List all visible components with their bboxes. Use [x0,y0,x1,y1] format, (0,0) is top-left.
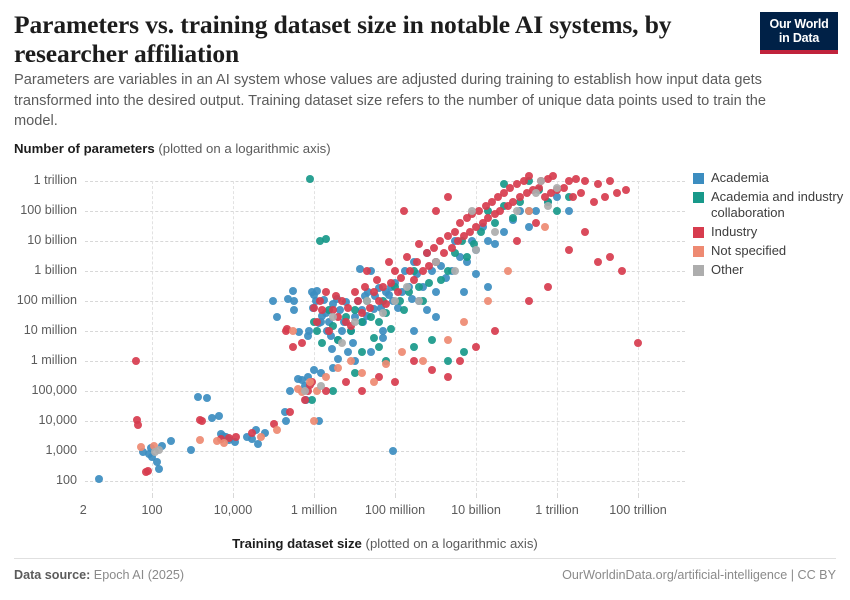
scatter-point[interactable] [363,267,371,275]
scatter-point[interactable] [351,288,359,296]
scatter-point[interactable] [565,207,573,215]
scatter-point[interactable] [286,408,294,416]
scatter-point[interactable] [338,327,346,335]
scatter-point[interactable] [298,339,306,347]
scatter-point[interactable] [387,325,395,333]
x-axis-tick-mark [395,493,396,498]
scatter-point[interactable] [553,184,561,192]
legend-item[interactable]: Academia [693,170,845,186]
scatter-point[interactable] [460,348,468,356]
scatter-point[interactable] [425,279,433,287]
scatter-point[interactable] [468,207,476,215]
footer-divider [14,558,836,559]
y-axis-tick-label: 10,000 [5,413,77,427]
legend-swatch-icon [693,227,704,238]
scatter-point[interactable] [451,228,459,236]
x-axis-tick-label: 1 trillion [535,503,578,517]
scatter-point[interactable] [379,334,387,342]
scatter-point[interactable] [220,439,228,447]
scatter-point[interactable] [622,186,630,194]
scatter-point[interactable] [375,318,383,326]
scatter-point[interactable] [194,393,202,401]
scatter-point[interactable] [367,313,375,321]
x-axis-tick-label: 100 million [365,503,425,517]
scatter-point[interactable] [451,267,459,275]
x-axis-title-note: (plotted on a logarithmic axis) [362,536,538,551]
scatter-point[interactable] [167,437,175,445]
scatter-point[interactable] [316,297,324,305]
page-title: Parameters vs. training dataset size in … [14,10,734,68]
scatter-point[interactable] [432,207,440,215]
scatter-point[interactable] [144,467,152,475]
scatter-point[interactable] [496,207,504,215]
scatter-point[interactable] [463,253,471,261]
y-axis-tick-label: 1 trillion [5,173,77,187]
scatter-point[interactable] [273,313,281,321]
x-axis-tick-label: 100 trillion [609,503,666,517]
scatter-point[interactable] [491,228,499,236]
y-axis-tick-label: 100 [5,473,77,487]
scatter-point[interactable] [572,175,580,183]
x-axis-tick-mark [314,493,315,498]
scatter-point[interactable] [310,417,318,425]
scatter-point[interactable] [290,306,298,314]
legend-swatch-icon [693,246,704,257]
scatter-point[interactable] [594,258,602,266]
scatter-point[interactable] [403,253,411,261]
scatter-point[interactable] [215,412,223,420]
scatter-point[interactable] [95,475,103,483]
scatter-point[interactable] [456,357,464,365]
x-axis-tick-label: 2 [80,503,87,517]
scatter-point[interactable] [187,446,195,454]
scatter-point[interactable] [413,258,421,266]
y-gridline [85,451,685,452]
y-axis-tick-label: 10 billion [5,233,77,247]
scatter-point[interactable] [313,287,321,295]
scatter-point[interactable] [361,283,369,291]
scatter-point[interactable] [322,235,330,243]
scatter-point[interactable] [606,253,614,261]
scatter-point[interactable] [391,378,399,386]
scatter-point[interactable] [301,387,309,395]
scatter-point[interactable] [379,283,387,291]
scatter-point[interactable] [317,382,325,390]
y-axis-tick-label: 100 million [5,293,77,307]
y-axis-title-note: (plotted on a logarithmic axis) [155,141,331,156]
scatter-point[interactable] [532,219,540,227]
x-gridline [395,181,396,491]
scatter-point[interactable] [310,366,318,374]
scatter-point[interactable] [375,343,383,351]
scatter-point[interactable] [391,297,399,305]
scatter-point[interactable] [513,237,521,245]
scatter-point[interactable] [513,207,521,215]
scatter-point[interactable] [301,396,309,404]
scatter-point[interactable] [430,244,438,252]
scatter-point[interactable] [415,240,423,248]
scatter-point[interactable] [423,249,431,257]
y-axis-title-strong: Number of parameters [14,141,155,156]
y-axis-tick-label: 10 million [5,323,77,337]
scatter-point[interactable] [379,309,387,317]
legend-swatch-icon [693,265,704,276]
scatter-point[interactable] [601,193,609,201]
x-gridline [557,181,558,491]
legend-swatch-icon [693,192,704,203]
scatter-point[interactable] [132,357,140,365]
scatter-point[interactable] [400,207,408,215]
scatter-point[interactable] [590,198,598,206]
y-axis-tick-label: 1 million [5,353,77,367]
y-gridline [85,241,685,242]
scatter-point[interactable] [370,378,378,386]
scatter-point[interactable] [344,304,352,312]
x-axis-title-strong: Training dataset size [232,536,362,551]
scatter-point[interactable] [363,297,371,305]
scatter-point[interactable] [565,246,573,254]
scatter-point[interactable] [472,343,480,351]
y-gridline [85,271,685,272]
scatter-point[interactable] [358,369,366,377]
scatter-point[interactable] [618,267,626,275]
y-gridline [85,421,685,422]
x-axis-tick-mark [152,493,153,498]
data-source-label: Data source: [14,568,90,582]
scatter-point[interactable] [334,364,342,372]
x-axis-title: Training dataset size (plotted on a loga… [85,536,685,551]
scatter-point[interactable] [196,436,204,444]
scatter-point[interactable] [155,446,163,454]
scatter-point[interactable] [342,378,350,386]
scatter-point[interactable] [310,304,318,312]
scatter-point[interactable] [344,348,352,356]
scatter-point[interactable] [155,465,163,473]
scatter-point[interactable] [382,300,390,308]
scatter-point[interactable] [500,228,508,236]
x-axis-tick-label: 1 million [291,503,337,517]
x-axis-tick-label: 100 [141,503,162,517]
scatter-point[interactable] [358,387,366,395]
scatter-point[interactable] [549,172,557,180]
scatter-point[interactable] [400,306,408,314]
scatter-point[interactable] [428,336,436,344]
scatter-point[interactable] [329,313,337,321]
scatter-point[interactable] [289,287,297,295]
scatter-point[interactable] [484,297,492,305]
scatter-point[interactable] [358,309,366,317]
scatter-point[interactable] [198,417,206,425]
scatter-point[interactable] [313,327,321,335]
scatter-point[interactable] [444,357,452,365]
scatter-point[interactable] [448,244,456,252]
scatter-point[interactable] [385,258,393,266]
scatter-point[interactable] [491,240,499,248]
legend-item-label: Academia [711,170,769,186]
legend-item-label: Not specified [711,243,786,259]
legend-item[interactable]: Not specified [693,243,845,259]
scatter-point[interactable] [257,433,265,441]
legend-item-label: Industry [711,224,757,240]
scatter-point[interactable] [203,394,211,402]
scatter-point[interactable] [428,366,436,374]
scatter-point[interactable] [134,421,142,429]
scatter-point[interactable] [306,378,314,386]
scatter-point[interactable] [581,228,589,236]
scatter-point[interactable] [351,318,359,326]
scatter-point[interactable] [354,297,362,305]
x-axis-tick-mark [233,493,234,498]
scatter-point[interactable] [289,343,297,351]
logo-line-2: in Data [779,31,819,45]
scatter-point[interactable] [269,297,277,305]
scatter-point[interactable] [544,283,552,291]
scatter-point[interactable] [613,189,621,197]
scatter-point[interactable] [537,177,545,185]
scatter-point[interactable] [322,373,330,381]
scatter-point[interactable] [594,180,602,188]
scatter-point[interactable] [437,276,445,284]
scatter-point[interactable] [387,279,395,287]
scatter-point[interactable] [306,175,314,183]
y-gridline [85,211,685,212]
scatter-point[interactable] [432,258,440,266]
scatter-point[interactable] [410,327,418,335]
legend-item-label: Other [711,262,744,278]
x-gridline [638,181,639,491]
scatter-point[interactable] [541,223,549,231]
scatter-point[interactable] [436,237,444,245]
scatter-point[interactable] [328,345,336,353]
scatter-point[interactable] [232,433,240,441]
logo-line-1: Our World [769,17,828,31]
scatter-point[interactable] [305,327,313,335]
scatter-point[interactable] [432,288,440,296]
legend-item[interactable]: Industry [693,224,845,240]
y-axis-title: Number of parameters (plotted on a logar… [14,141,331,156]
scatter-point[interactable] [410,357,418,365]
data-source: Data source: Epoch AI (2025) [14,568,184,582]
scatter-point[interactable] [397,274,405,282]
x-gridline [314,181,315,491]
scatter-point[interactable] [606,177,614,185]
scatter-point[interactable] [370,288,378,296]
scatter-point[interactable] [491,219,499,227]
scatter-point[interactable] [577,189,585,197]
scatter-point[interactable] [509,198,517,206]
scatter-point[interactable] [329,387,337,395]
y-gridline [85,481,685,482]
scatter-point[interactable] [484,283,492,291]
scatter-point[interactable] [358,318,366,326]
scatter-point[interactable] [532,207,540,215]
y-axis-tick-label: 1 billion [5,263,77,277]
scatter-point[interactable] [282,417,290,425]
scatter-point[interactable] [444,336,452,344]
legend-item[interactable]: Other [693,262,845,278]
scatter-point[interactable] [491,327,499,335]
scatter-point[interactable] [581,177,589,185]
legend-swatch-icon [693,173,704,184]
plot-area: 1 trillion100 billion10 billion1 billion… [85,181,685,491]
x-axis-tick-mark [557,493,558,498]
scatter-point[interactable] [398,348,406,356]
scatter-point[interactable] [525,207,533,215]
legend-item[interactable]: Academia and industry collaboration [693,189,845,221]
y-axis-tick-label: 100,000 [5,383,77,397]
scatter-point[interactable] [432,313,440,321]
scatter-point[interactable] [367,348,375,356]
scatter-point[interactable] [444,373,452,381]
legend: AcademiaAcademia and industry collaborat… [693,170,845,281]
footer-attribution[interactable]: OurWorldinData.org/artificial-intelligen… [562,568,836,582]
scatter-point[interactable] [460,318,468,326]
x-axis-tick-label: 10,000 [214,503,253,517]
scatter-point[interactable] [532,189,540,197]
scatter-point[interactable] [472,246,480,254]
scatter-point[interactable] [419,357,427,365]
scatter-point[interactable] [254,440,262,448]
chart-header: Parameters vs. training dataset size in … [0,0,850,132]
scatter-point[interactable] [273,426,281,434]
data-source-value: Epoch AI (2025) [90,568,184,582]
y-axis-tick-label: 100 billion [5,203,77,217]
scatter-point[interactable] [290,297,298,305]
y-gridline [85,391,685,392]
scatter-point[interactable] [318,339,326,347]
scatter-point[interactable] [338,339,346,347]
scatter-point[interactable] [410,343,418,351]
scatter-point[interactable] [370,334,378,342]
scatter-point[interactable] [334,355,342,363]
legend-item-label: Academia and industry collaboration [711,189,845,221]
scatter-point[interactable] [569,193,577,201]
y-axis-tick-label: 1,000 [5,443,77,457]
scatter-point[interactable] [460,288,468,296]
scatter-point[interactable] [504,267,512,275]
scatter-point[interactable] [403,283,411,291]
scatter-point[interactable] [349,339,357,347]
scatter-point[interactable] [634,339,642,347]
scatter-point[interactable] [553,207,561,215]
scatter-point[interactable] [440,249,448,257]
scatter-point[interactable] [373,276,381,284]
scatter-point[interactable] [289,327,297,335]
scatter-point[interactable] [423,306,431,314]
scatter-point[interactable] [544,202,552,210]
x-axis-tick-label: 10 billion [451,503,501,517]
scatter-point[interactable] [358,348,366,356]
chart-subtitle: Parameters are variables in an AI system… [14,70,804,132]
our-world-in-data-logo[interactable]: Our World in Data [760,12,838,54]
x-axis-tick-mark [638,493,639,498]
scatter-point[interactable] [322,288,330,296]
scatter-point[interactable] [472,270,480,278]
scatter-point[interactable] [382,360,390,368]
x-axis-tick-mark [476,493,477,498]
scatter-point[interactable] [444,193,452,201]
scatter-point[interactable] [294,375,302,383]
scatter-point[interactable] [525,172,533,180]
scatter-point[interactable] [525,297,533,305]
scatter-point[interactable] [347,357,355,365]
